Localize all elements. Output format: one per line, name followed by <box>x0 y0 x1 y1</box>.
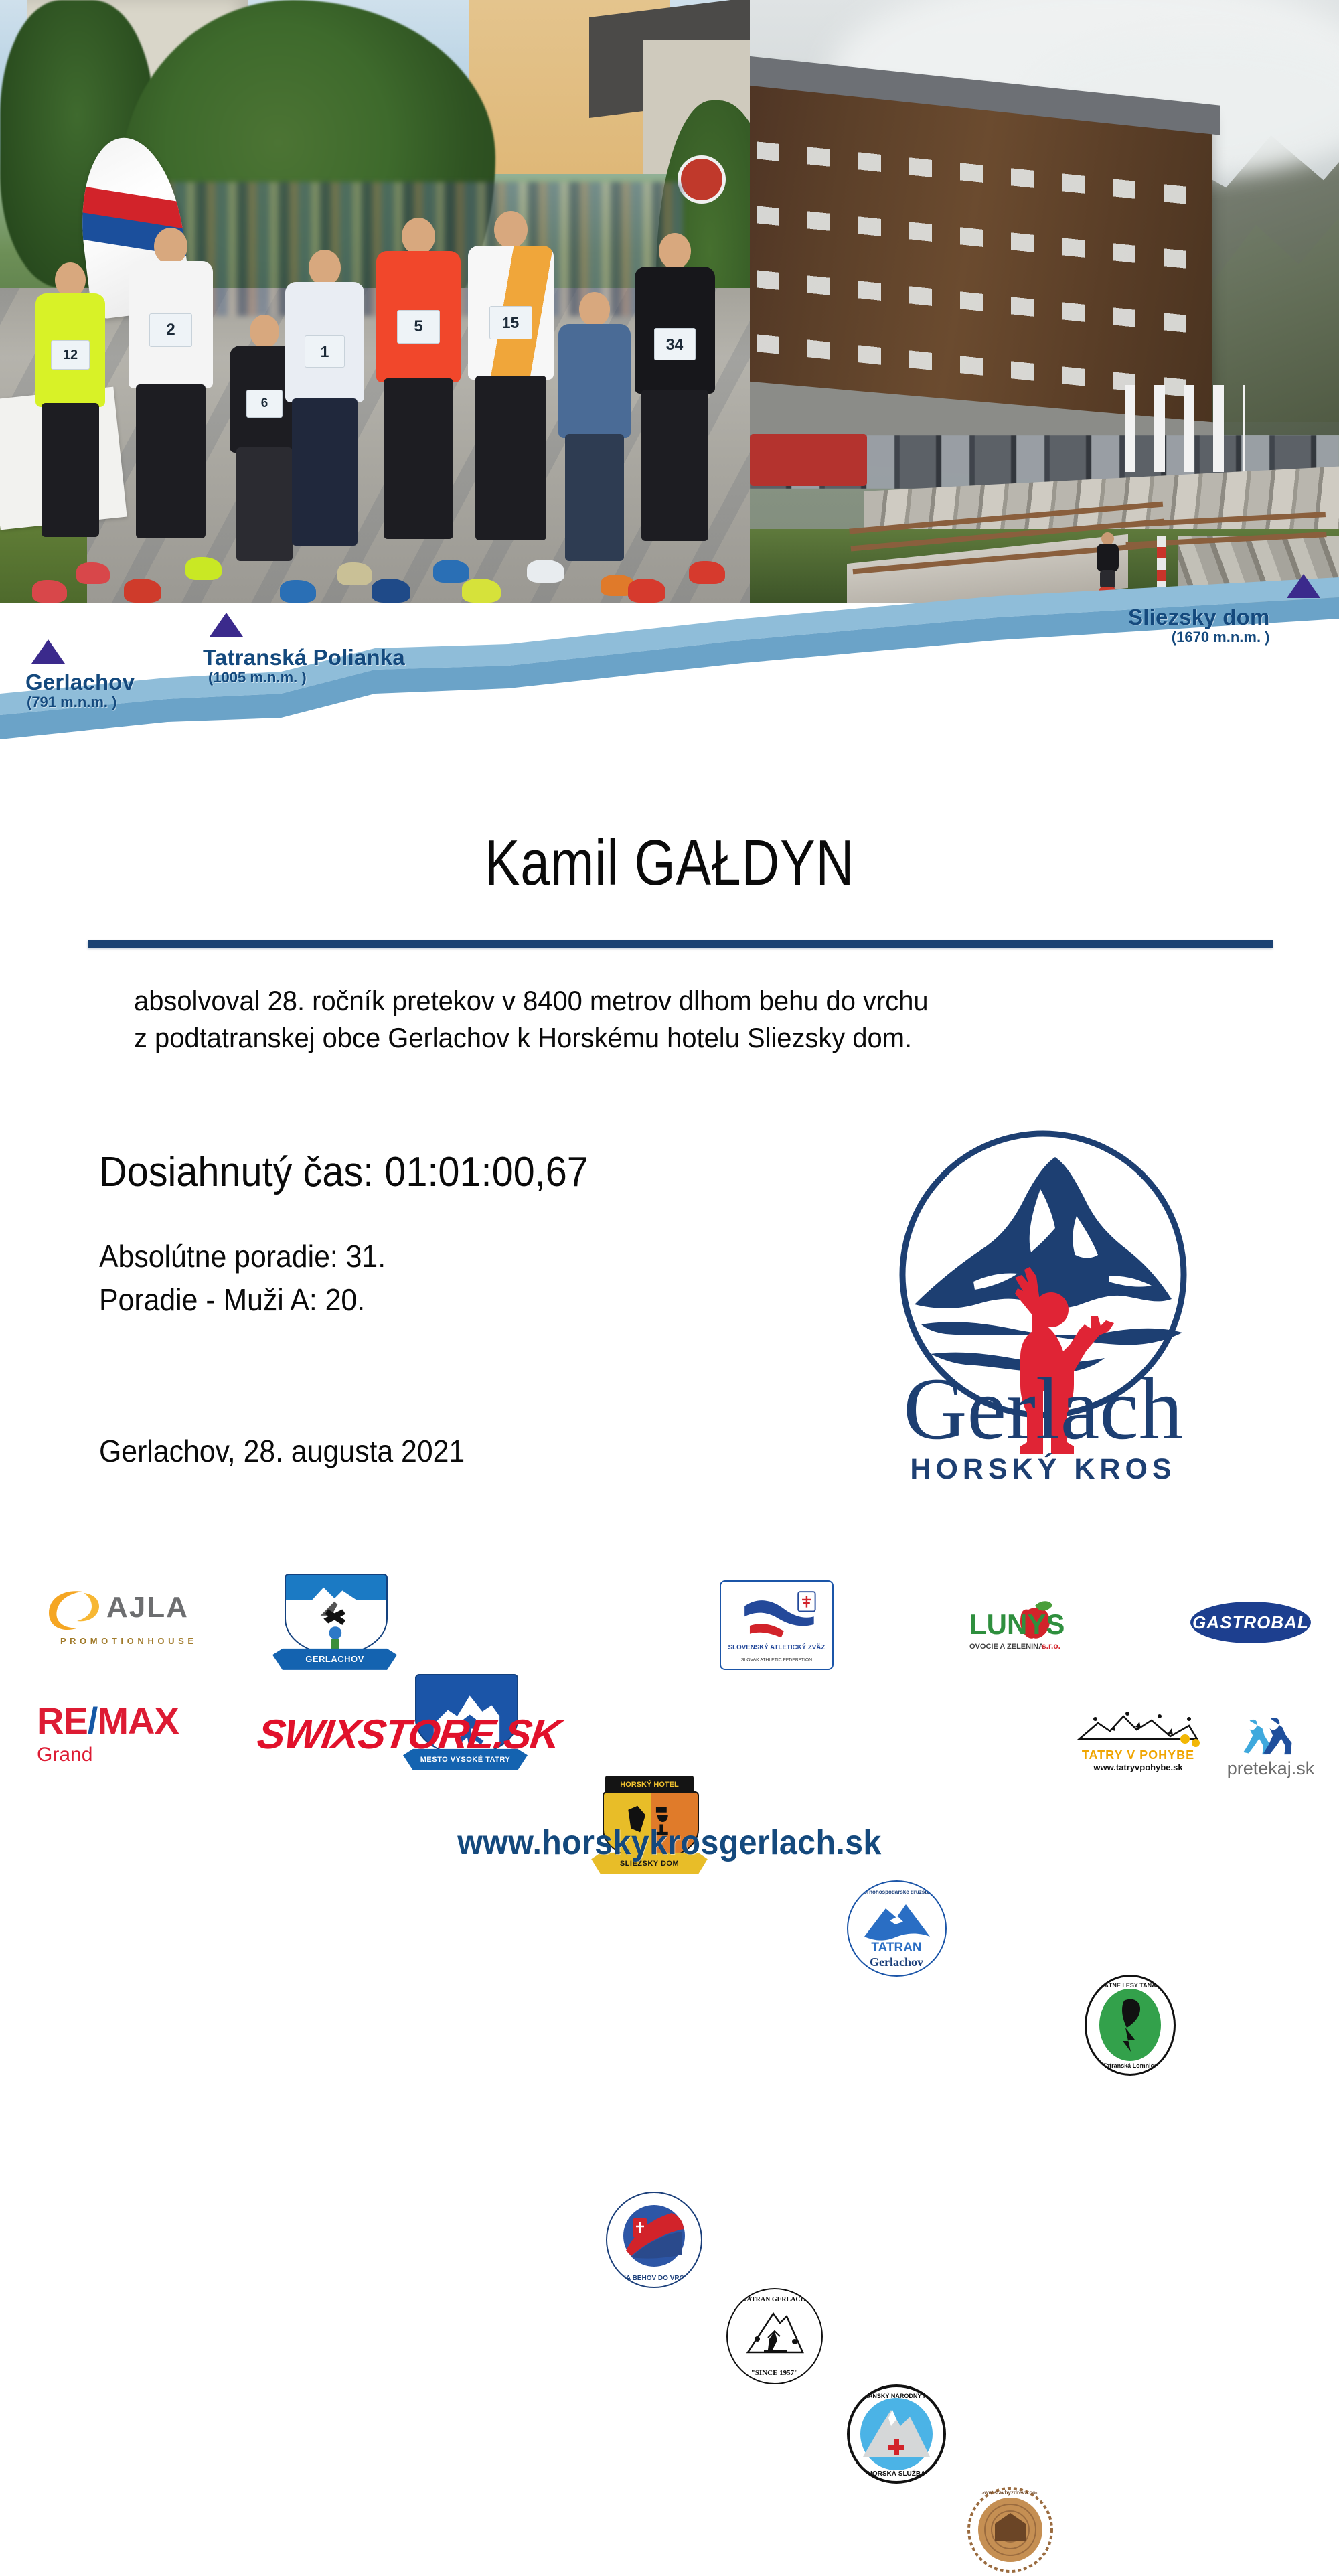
runner-bib-1: 1 <box>274 238 375 603</box>
point-altitude: (1005 m.n.m. ) <box>208 669 405 686</box>
place-and-date: Gerlachov, 28. augusta 2021 <box>99 1433 465 1469</box>
divider-rule <box>88 940 1273 948</box>
photo-race-start: 12 2 6 1 <box>0 0 750 603</box>
sponsor-horska-sluzba: TATRANSKÝ NÁRODNÝ PARK HORSKÁ SLUŽBA <box>847 2384 946 2484</box>
point-altitude: (791 m.n.m. ) <box>27 694 135 711</box>
runner-bib-2: 2 <box>117 228 224 603</box>
photo-sliezsky-dom <box>750 0 1339 603</box>
logo-wordmark: Gerlach <box>903 1359 1183 1458</box>
sponsor-stavbyzdreva: www.stavbyzdreva.com <box>964 2484 1056 2576</box>
website-url[interactable]: www.horskykrosgerlach.sk <box>47 1823 1292 1863</box>
svg-text:LUNYS: LUNYS <box>969 1608 1065 1640</box>
svg-text:TATRANSKÝ NÁRODNÝ PARK: TATRANSKÝ NÁRODNÝ PARK <box>853 2392 940 2399</box>
svg-text:Gerlachov: Gerlachov <box>870 1955 923 1969</box>
stop-sign-icon <box>678 155 726 204</box>
athlete-name: Kamil GAŁDYN <box>121 826 1218 900</box>
point-name: Sliezsky dom <box>1128 605 1270 630</box>
sponsor-pretekaj-name: pretekaj.sk <box>1227 1758 1315 1779</box>
runner-bib-34: 34 <box>623 228 726 603</box>
svg-text:OVOCIE A ZELENINA: OVOCIE A ZELENINA <box>969 1643 1044 1651</box>
sponsor-logos: AJLA P R O M O T I O N H O U S E RE/MAX … <box>0 1574 1339 1841</box>
sponsor-unia-behov-do-vrchu: ÚNIA BEHOV DO VRCHU <box>606 2192 702 2288</box>
sponsor-ajla-sub: P R O M O T I O N H O U S E <box>60 1636 194 1646</box>
event-beach-flags <box>1125 385 1245 472</box>
red-van <box>750 434 867 486</box>
sponsor-gastrobal-name: GASTROBAL <box>1192 1612 1309 1633</box>
svg-text:"SINCE 1957": "SINCE 1957" <box>751 2369 799 2377</box>
profile-point-tatranska-polianka: Tatranská Polianka (1005 m.n.m. ) <box>203 645 405 686</box>
marker-triangle-gerlachov <box>31 639 65 664</box>
absolute-rank: Absolútne poradie: 31. <box>99 1235 722 1278</box>
profile-point-gerlachov: Gerlachov (791 m.n.m. ) <box>25 670 135 711</box>
profile-point-sliezsky-dom: Sliezsky dom (1670 m.n.m. ) <box>1128 605 1270 646</box>
point-altitude: (1670 m.n.m. ) <box>1128 629 1270 646</box>
hotel-windows <box>757 97 1198 398</box>
photo-strip: 12 2 6 1 <box>0 0 1339 603</box>
sponsor-tatry-v-pohybe: TATRY V POHYBE www.tatryvpohybe.sk <box>1071 1708 1205 1774</box>
sponsor-pretekaj: pretekaj.sk <box>1224 1699 1318 1787</box>
svg-text:TJ TATRAN GERLACHOV: TJ TATRAN GERLACHOV <box>734 2296 817 2303</box>
elevation-profile: Gerlachov (791 m.n.m. ) Tatranská Polian… <box>0 576 1339 797</box>
profile-band-light <box>0 577 1339 715</box>
sponsor-gerlachov-crest: GERLACHOV <box>285 1574 385 1674</box>
sponsor-tatry-name: TATRY V POHYBE <box>1082 1748 1194 1762</box>
sponsor-ajla: AJLA P R O M O T I O N H O U S E <box>37 1579 218 1653</box>
gerlach-horsky-kros-logo: Gerlach HORSKÝ KROS <box>842 1104 1244 1505</box>
svg-text:TATRAN: TATRAN <box>871 1941 921 1955</box>
sponsor-lunys: LUNYS OVOCIE A ZELENINA s.r.o. <box>964 1592 1065 1659</box>
svg-text:SLOVENSKÝ ATLETICKÝ ZVÄZ: SLOVENSKÝ ATLETICKÝ ZVÄZ <box>728 1643 825 1651</box>
sponsor-gastrobal: GASTROBAL <box>1190 1602 1311 1643</box>
sponsor-remax: RE/MAX Grand <box>37 1691 218 1778</box>
sponsor-swixstore: SWIXSTORE.SK <box>261 1708 556 1761</box>
sponsor-tatry-sub: www.tatryvpohybe.sk <box>1093 1762 1182 1772</box>
svg-text:s.r.o.: s.r.o. <box>1042 1641 1060 1651</box>
runner-yellow: 12 <box>27 254 114 603</box>
sponsor-swixstore-name: SWIXSTORE.SK <box>254 1711 562 1758</box>
sponsor-remax-sub: Grand <box>37 1744 92 1766</box>
svg-text:ŠTÁTNE LESY TANAPu: ŠTÁTNE LESY TANAPu <box>1097 1981 1164 1989</box>
marker-triangle-sliezsky-dom <box>1287 574 1320 598</box>
sponsor-sliezsky-top: HORSKÝ HOTEL <box>605 1776 694 1793</box>
description-line-1: absolvoval 28. ročník pretekov v 8400 me… <box>134 983 1171 1020</box>
sponsor-tj-tatran-gerlachov: TJ TATRAN GERLACHOV "SINCE 1957" <box>726 2288 823 2384</box>
marker-triangle-tatranska-polianka <box>210 613 243 637</box>
svg-text:Poľnohospodárske družstvo: Poľnohospodárske družstvo <box>860 1889 933 1895</box>
sponsor-slovensky-atleticky-zvaz: SLOVENSKÝ ATLETICKÝ ZVÄZ SLOVAK ATHLETIC… <box>720 1582 834 1669</box>
sponsor-statne-lesy-tanapu: ŠTÁTNE LESY TANAPu Tatranská Lomnica <box>1085 1975 1176 2076</box>
svg-text:SLOVAK ATHLETIC FEDERATION: SLOVAK ATHLETIC FEDERATION <box>741 1658 812 1663</box>
category-rank: Poradie - Muži A: 20. <box>99 1278 722 1322</box>
description-line-2: z podtatranskej obce Gerlachov k Horském… <box>134 1020 1171 1057</box>
svg-text:Tatranská Lomnica: Tatranská Lomnica <box>1103 2062 1158 2069</box>
finish-time: Dosiahnutý čas: 01:01:00,67 <box>99 1152 722 1193</box>
sponsor-gerlachov-ribbon: GERLACHOV <box>272 1646 397 1672</box>
point-name: Gerlachov <box>25 670 135 695</box>
certificate-page: 12 2 6 1 <box>0 0 1339 1895</box>
svg-text:AJLA: AJLA <box>106 1591 189 1624</box>
logo-tagline: HORSKÝ KROS <box>910 1453 1176 1485</box>
sponsor-remax-name: RE/MAX <box>37 1702 179 1740</box>
svg-text:www.stavbyzdreva.com: www.stavbyzdreva.com <box>979 2490 1040 2496</box>
results-block: Dosiahnutý čas: 01:01:00,67 Absolútne po… <box>99 1152 769 1322</box>
svg-text:HORSKÁ SLUŽBA: HORSKÁ SLUŽBA <box>868 2469 926 2478</box>
point-name: Tatranská Polianka <box>203 645 405 670</box>
svg-text:ÚNIA BEHOV DO VRCHU: ÚNIA BEHOV DO VRCHU <box>615 2273 694 2282</box>
description-text: absolvoval 28. ročník pretekov v 8400 me… <box>134 983 1171 1056</box>
